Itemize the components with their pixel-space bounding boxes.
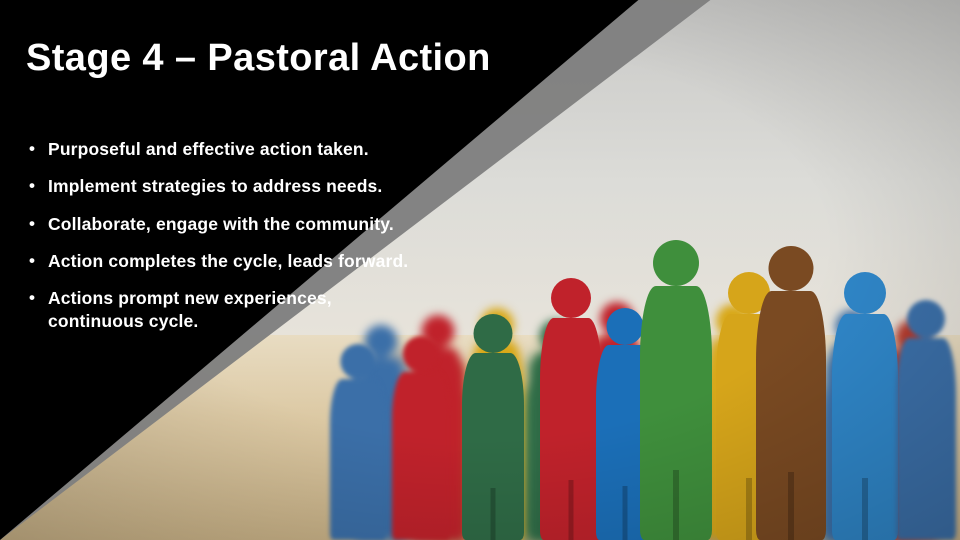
- bullet-marker-icon: •: [29, 213, 35, 236]
- list-item: • Implement strategies to address needs.: [26, 175, 426, 198]
- bullet-marker-icon: •: [29, 287, 35, 310]
- slide: Stage 4 – Pastoral Action • Purposeful a…: [0, 0, 960, 540]
- bullet-text: Collaborate, engage with the community.: [48, 214, 394, 234]
- bullet-text: Implement strategies to address needs.: [48, 176, 382, 196]
- slide-title: Stage 4 – Pastoral Action: [26, 38, 666, 80]
- list-item: • Action completes the cycle, leads forw…: [26, 250, 426, 273]
- bullet-marker-icon: •: [29, 138, 35, 161]
- bullet-text: Actions prompt new experiences, continuo…: [48, 288, 332, 331]
- bullet-list: • Purposeful and effective action taken.…: [26, 138, 426, 348]
- bullet-text: Purposeful and effective action taken.: [48, 139, 369, 159]
- list-item: • Collaborate, engage with the community…: [26, 213, 426, 236]
- bullet-marker-icon: •: [29, 175, 35, 198]
- bullet-marker-icon: •: [29, 250, 35, 273]
- list-item: • Actions prompt new experiences, contin…: [26, 287, 426, 334]
- bullet-text: Action completes the cycle, leads forwar…: [48, 251, 408, 271]
- list-item: • Purposeful and effective action taken.: [26, 138, 426, 161]
